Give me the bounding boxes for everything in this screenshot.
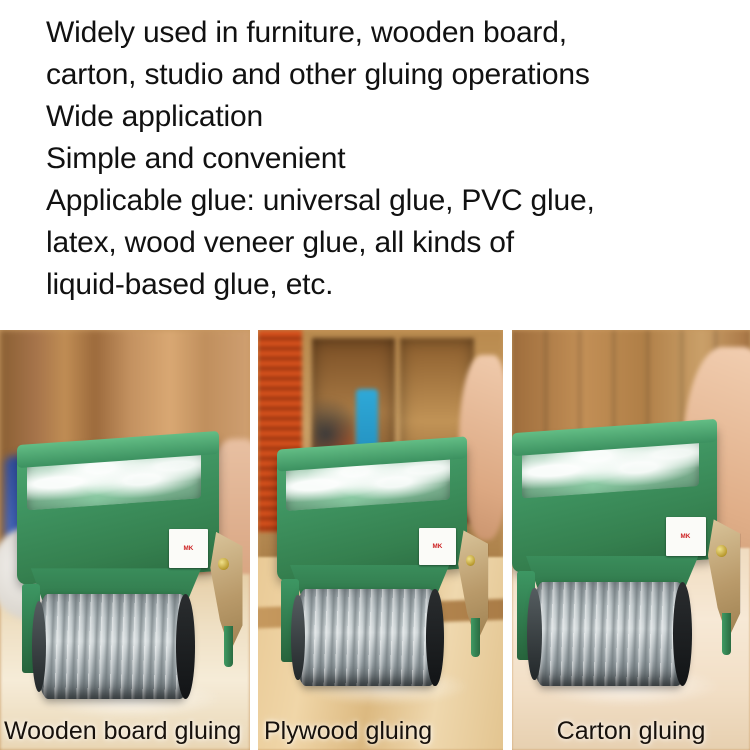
glue-roller-drum (294, 589, 441, 686)
brand-label: MK (666, 517, 706, 556)
panel-caption-plywood: Plywood gluing (258, 717, 503, 746)
feature-line-6: latex, wood veneer glue, all kinds of (46, 222, 736, 264)
roller-end-cap-right (176, 594, 195, 698)
glue-roller-product: MK (13, 443, 243, 703)
feature-line-4: Simple and convenient (46, 138, 736, 180)
roller-end-cap-left (291, 595, 304, 681)
brass-screw (218, 558, 228, 570)
brand-label: MK (419, 528, 456, 565)
glue-roller-product: MK (273, 448, 489, 692)
feature-line-7: liquid-based glue, etc. (46, 264, 736, 306)
photo-panel-carton: MK Carton gluing (512, 330, 750, 750)
green-hook (471, 618, 480, 657)
product-marketing-image: Widely used in furniture, wooden board, … (0, 0, 750, 750)
panel-caption-carton: Carton gluing (512, 717, 750, 746)
feature-text-block: Widely used in furniture, wooden board, … (46, 12, 736, 306)
roller-end-cap-right (426, 589, 444, 686)
glue-roller-product: MK (512, 431, 740, 691)
photo-panel-wooden-board: MK Wooden board gluing (0, 330, 250, 750)
photo-strip: MK Wooden board gluing (0, 330, 750, 750)
brass-screw (466, 555, 476, 566)
green-hook (224, 626, 233, 668)
brand-logo-text: MK (184, 546, 194, 552)
feature-line-3: Wide application (46, 96, 736, 138)
brand-logo-text: MK (681, 533, 691, 539)
photo-panel-plywood: MK Plywood gluing (258, 330, 503, 750)
brand-label: MK (169, 529, 208, 568)
brand-logo-text: MK (433, 543, 443, 549)
feature-line-5: Applicable glue: universal glue, PVC glu… (46, 180, 736, 222)
panel-caption-wooden-board: Wooden board gluing (0, 717, 250, 746)
glue-roller-drum (36, 594, 192, 698)
roller-end-cap-left (527, 588, 541, 680)
brass-screw (716, 545, 726, 557)
feature-line-2: carton, studio and other gluing operatio… (46, 54, 736, 96)
glue-roller-drum (531, 582, 690, 686)
green-hook (722, 613, 731, 655)
feature-line-1: Widely used in furniture, wooden board, (46, 12, 736, 54)
roller-end-cap-left (32, 601, 46, 693)
